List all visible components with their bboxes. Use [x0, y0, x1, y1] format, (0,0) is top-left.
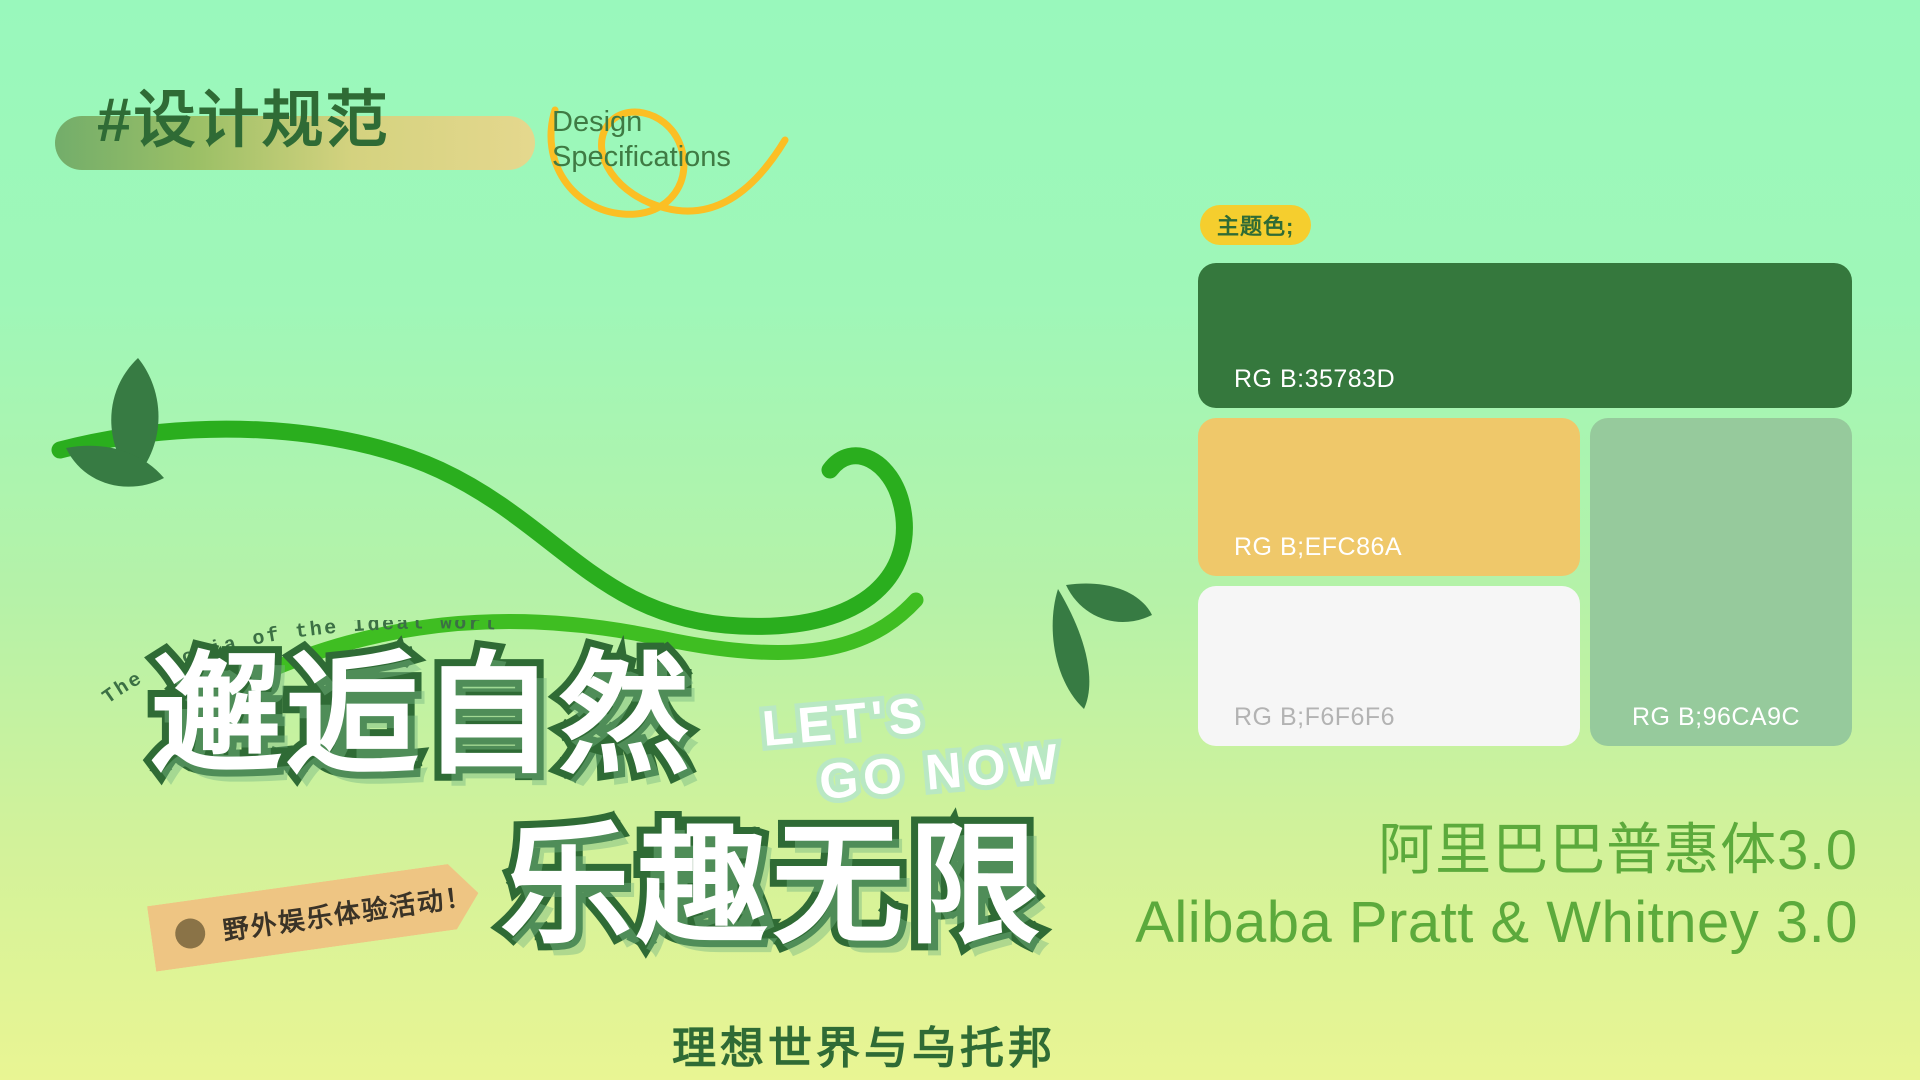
poster-subtitle: 理想世界与乌托邦	[672, 1012, 1056, 1076]
poster-artwork: The Utopia of the Ideal world 邂逅自然 乐趣无限 …	[0, 300, 1180, 800]
specimen-font-zh: 阿里巴巴普惠体3.0	[0, 815, 1890, 885]
typography-specimen: 阿里巴巴普惠体3.0 Alibaba Pratt & Whitney 3.0	[0, 815, 1890, 960]
swatch-accent-yellow: RG B;EFC86A	[1198, 418, 1580, 576]
swatch-accent-label: RG B;EFC86A	[1198, 533, 1402, 576]
header-subtitle: Design Specifications	[552, 105, 731, 176]
color-palette-section: 主题色; RG B:35783D RG B;EFC86A RG B;F6F6F6…	[1198, 205, 1858, 785]
headline-line-1: 邂逅自然	[150, 650, 694, 782]
palette-badge: 主题色;	[1200, 205, 1311, 245]
swatch-neutral-label: RG B;F6F6F6	[1198, 703, 1395, 746]
design-spec-canvas: #设计规范 Design Specifications The Utopia o…	[0, 0, 1920, 1080]
page-title: #设计规范	[97, 90, 389, 152]
header-subtitle-line1: Design	[552, 105, 731, 140]
header-subtitle-line2: Specifications	[552, 140, 731, 175]
swatch-sage-green: RG B;96CA9C	[1590, 418, 1852, 746]
specimen-font-en: Alibaba Pratt & Whitney 3.0	[0, 885, 1890, 960]
header-block: #设计规范 Design Specifications	[55, 70, 815, 200]
swatch-sage-label: RG B;96CA9C	[1590, 703, 1800, 746]
swatch-primary-green: RG B:35783D	[1198, 263, 1852, 408]
swatch-primary-label: RG B:35783D	[1198, 365, 1395, 408]
swatch-neutral-gray: RG B;F6F6F6	[1198, 586, 1580, 746]
